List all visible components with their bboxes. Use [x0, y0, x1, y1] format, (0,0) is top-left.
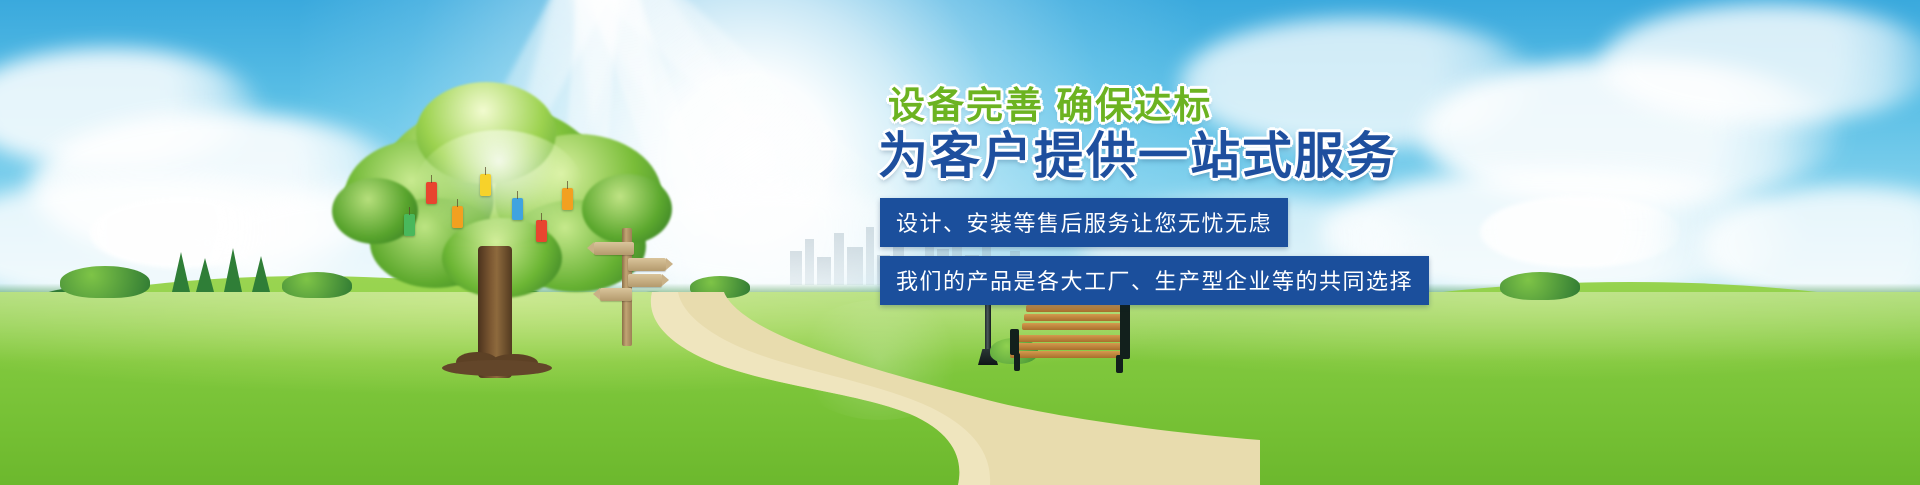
conifer-tree	[252, 256, 270, 292]
signpost-arm	[628, 274, 662, 287]
hero-banner: 设备完善 确保达标 为客户提供一站式服务 设计、安装等售后服务让您无忧无虑 我们…	[0, 0, 1920, 485]
bench-backrest-slat	[1024, 314, 1126, 321]
bench-armrest	[1120, 301, 1130, 359]
cloud	[0, 48, 260, 168]
tagline-bar-two-wrap: 我们的产品是各大工厂、生产型企业等的共同选择	[880, 256, 1500, 305]
bench-leg	[1116, 355, 1123, 373]
hanging-tag	[426, 182, 437, 204]
bench-backrest-slat	[1022, 323, 1126, 330]
signpost-arm	[600, 288, 632, 301]
hanging-tag	[480, 174, 491, 196]
conifer-tree	[172, 252, 190, 292]
cloud	[1600, 4, 1920, 124]
tagline-bar-one-wrap: 设计、安装等售后服务让您无忧无虑	[880, 198, 1500, 247]
bench-leg	[1014, 353, 1020, 371]
tree-root	[442, 360, 552, 376]
conifer-tree	[224, 248, 242, 292]
banner-text-block: 设备完善 确保达标 为客户提供一站式服务 设计、安装等售后服务让您无忧无虑 我们…	[880, 86, 1500, 305]
tagline-bar-two: 我们的产品是各大工厂、生产型企业等的共同选择	[880, 256, 1429, 305]
hanging-tag	[404, 214, 415, 236]
park-bench	[1010, 305, 1135, 373]
conifer-tree	[196, 258, 214, 292]
shrub	[60, 266, 150, 298]
hanging-tag	[512, 198, 523, 220]
bench-backrest-slat	[1026, 305, 1126, 312]
hanging-tag	[536, 220, 547, 242]
bench-seat-slat	[1013, 343, 1125, 350]
headline-green: 设备完善 确保达标	[888, 86, 1500, 126]
bench-seat-slat	[1016, 335, 1126, 342]
hanging-tag	[562, 188, 573, 210]
bench-seat-slat	[1010, 351, 1124, 358]
headline-blue: 为客户提供一站式服务	[878, 128, 1500, 184]
signpost-arm	[594, 242, 634, 255]
signpost-arm	[628, 258, 666, 271]
hanging-tag	[452, 206, 463, 228]
tagline-bar-one: 设计、安装等售后服务让您无忧无虑	[880, 198, 1288, 247]
bench-armrest	[1010, 329, 1019, 355]
directional-signpost	[596, 228, 666, 348]
shrub	[1500, 272, 1580, 300]
